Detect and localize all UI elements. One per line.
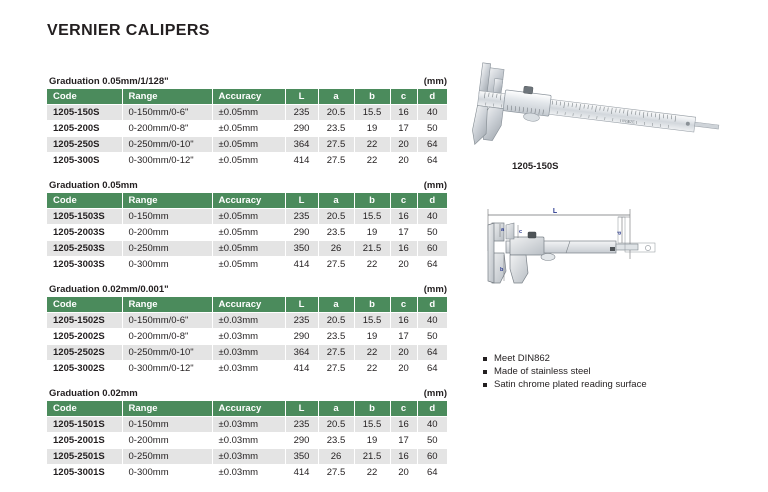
- cell-b: 19: [354, 121, 390, 137]
- cell-range: 0-250mm: [122, 241, 212, 257]
- cell-c: 20: [390, 345, 417, 361]
- cell-d: 64: [417, 361, 447, 377]
- column-header-a: a: [318, 297, 354, 313]
- table-row: 1205-1501S 0-150mm ±0.03mm 235 20.5 15.5…: [47, 417, 447, 433]
- cell-code: 1205-2003S: [47, 225, 122, 241]
- table-unit-note: (mm): [424, 388, 447, 399]
- column-header-d: d: [417, 193, 447, 209]
- cell-code: 1205-250S: [47, 137, 122, 153]
- column-header-code: Code: [47, 89, 122, 105]
- cell-a: 23.5: [318, 433, 354, 449]
- column-header-l: L: [285, 401, 318, 417]
- cell-d: 64: [417, 465, 447, 481]
- dimension-label-L: L: [553, 208, 558, 215]
- cell-a: 27.5: [318, 137, 354, 153]
- table-row: 1205-3003S 0-300mm ±0.05mm 414 27.5 22 2…: [47, 257, 447, 273]
- feature-list: Meet DIN862 Made of stainless steel Sati…: [483, 352, 647, 391]
- cell-accuracy: ±0.05mm: [212, 105, 285, 121]
- cell-range: 0-250mm/0-10": [122, 345, 212, 361]
- cell-l: 235: [285, 105, 318, 121]
- cell-b: 22: [354, 465, 390, 481]
- table-row: 1205-200S 0-200mm/0-8" ±0.05mm 290 23.5 …: [47, 121, 447, 137]
- cell-l: 350: [285, 241, 318, 257]
- cell-l: 290: [285, 329, 318, 345]
- table-caption-row: Graduation 0.05mm/1/128" (mm): [47, 76, 447, 89]
- dimension-label-c: c: [519, 229, 522, 235]
- column-header-l: L: [285, 297, 318, 313]
- cell-b: 15.5: [354, 209, 390, 225]
- column-header-accuracy: Accuracy: [212, 297, 285, 313]
- feature-list-item: Meet DIN862: [483, 352, 647, 365]
- table-caption: Graduation 0.05mm/1/128": [49, 76, 169, 87]
- cell-range: 0-300mm: [122, 257, 212, 273]
- cell-b: 19: [354, 433, 390, 449]
- product-photo-caption: 1205-150S: [512, 161, 558, 172]
- cell-code: 1205-300S: [47, 153, 122, 169]
- spec-table-block: Graduation 0.02mm/0.001" (mm) Code Range…: [47, 284, 447, 377]
- cell-l: 364: [285, 345, 318, 361]
- table-row: 1205-150S 0-150mm/0-6" ±0.05mm 235 20.5 …: [47, 105, 447, 121]
- dimension-label-a: a: [501, 227, 505, 233]
- vernier-caliper-photo-icon: INSIZE: [470, 62, 755, 157]
- column-header-c: c: [390, 89, 417, 105]
- cell-c: 17: [390, 329, 417, 345]
- cell-d: 60: [417, 241, 447, 257]
- cell-range: 0-150mm: [122, 417, 212, 433]
- cell-l: 350: [285, 449, 318, 465]
- vernier-caliper-dimension-drawing-icon: L a c b: [470, 195, 755, 305]
- cell-l: 414: [285, 153, 318, 169]
- column-header-code: Code: [47, 401, 122, 417]
- cell-l: 235: [285, 417, 318, 433]
- cell-l: 290: [285, 225, 318, 241]
- cell-code: 1205-3002S: [47, 361, 122, 377]
- cell-accuracy: ±0.05mm: [212, 241, 285, 257]
- table-row: 1205-2502S 0-250mm/0-10" ±0.03mm 364 27.…: [47, 345, 447, 361]
- cell-range: 0-200mm/0-8": [122, 121, 212, 137]
- table-caption: Graduation 0.05mm: [49, 180, 138, 191]
- cell-b: 15.5: [354, 417, 390, 433]
- cell-range: 0-250mm: [122, 449, 212, 465]
- cell-code: 1205-150S: [47, 105, 122, 121]
- spec-table-block: Graduation 0.05mm/1/128" (mm) Code Range…: [47, 76, 447, 169]
- table-caption: Graduation 0.02mm: [49, 388, 138, 399]
- cell-d: 40: [417, 417, 447, 433]
- cell-d: 64: [417, 137, 447, 153]
- cell-l: 290: [285, 433, 318, 449]
- table-caption-row: Graduation 0.02mm/0.001" (mm): [47, 284, 447, 297]
- cell-c: 20: [390, 257, 417, 273]
- cell-a: 23.5: [318, 121, 354, 137]
- column-header-range: Range: [122, 401, 212, 417]
- cell-range: 0-200mm/0-8": [122, 329, 212, 345]
- cell-accuracy: ±0.03mm: [212, 329, 285, 345]
- cell-code: 1205-200S: [47, 121, 122, 137]
- cell-code: 1205-2502S: [47, 345, 122, 361]
- cell-c: 20: [390, 361, 417, 377]
- column-header-a: a: [318, 401, 354, 417]
- cell-d: 50: [417, 329, 447, 345]
- column-header-range: Range: [122, 89, 212, 105]
- cell-a: 27.5: [318, 257, 354, 273]
- table-row: 1205-3002S 0-300mm/0-12" ±0.03mm 414 27.…: [47, 361, 447, 377]
- column-header-range: Range: [122, 297, 212, 313]
- table-unit-note: (mm): [424, 180, 447, 191]
- cell-accuracy: ±0.05mm: [212, 225, 285, 241]
- cell-c: 16: [390, 313, 417, 329]
- feature-list-item: Satin chrome plated reading surface: [483, 378, 647, 391]
- cell-l: 290: [285, 121, 318, 137]
- column-header-d: d: [417, 297, 447, 313]
- cell-range: 0-200mm: [122, 433, 212, 449]
- cell-range: 0-150mm/0-6": [122, 105, 212, 121]
- column-header-d: d: [417, 401, 447, 417]
- cell-range: 0-200mm: [122, 225, 212, 241]
- column-header-accuracy: Accuracy: [212, 401, 285, 417]
- table-row: 1205-2001S 0-200mm ±0.03mm 290 23.5 19 1…: [47, 433, 447, 449]
- cell-l: 364: [285, 137, 318, 153]
- cell-d: 64: [417, 153, 447, 169]
- product-illustration-column: INSIZE 1205-150S L: [470, 62, 755, 157]
- cell-a: 27.5: [318, 153, 354, 169]
- cell-c: 17: [390, 121, 417, 137]
- cell-b: 19: [354, 329, 390, 345]
- spec-table: Code Range Accuracy L a b c d 1205-1503S…: [47, 193, 447, 273]
- cell-c: 20: [390, 465, 417, 481]
- cell-l: 414: [285, 257, 318, 273]
- cell-code: 1205-2501S: [47, 449, 122, 465]
- feature-list-item: Made of stainless steel: [483, 365, 647, 378]
- column-header-code: Code: [47, 193, 122, 209]
- table-row: 1205-1502S 0-150mm/0-6" ±0.03mm 235 20.5…: [47, 313, 447, 329]
- cell-c: 20: [390, 153, 417, 169]
- table-unit-note: (mm): [424, 284, 447, 295]
- cell-l: 414: [285, 361, 318, 377]
- cell-range: 0-300mm/0-12": [122, 361, 212, 377]
- spec-table-block: Graduation 0.05mm (mm) Code Range Accura…: [47, 180, 447, 273]
- cell-code: 1205-1502S: [47, 313, 122, 329]
- cell-c: 16: [390, 209, 417, 225]
- cell-code: 1205-2002S: [47, 329, 122, 345]
- cell-a: 23.5: [318, 225, 354, 241]
- cell-accuracy: ±0.03mm: [212, 449, 285, 465]
- cell-accuracy: ±0.05mm: [212, 209, 285, 225]
- spec-tables-column: Graduation 0.05mm/1/128" (mm) Code Range…: [47, 76, 447, 492]
- spec-table: Code Range Accuracy L a b c d 1205-1501S…: [47, 401, 447, 481]
- cell-a: 23.5: [318, 329, 354, 345]
- column-header-b: b: [354, 401, 390, 417]
- cell-b: 22: [354, 257, 390, 273]
- table-header-row: Code Range Accuracy L a b c d: [47, 193, 447, 209]
- column-header-a: a: [318, 193, 354, 209]
- cell-accuracy: ±0.05mm: [212, 153, 285, 169]
- cell-a: 26: [318, 241, 354, 257]
- cell-code: 1205-2001S: [47, 433, 122, 449]
- cell-a: 27.5: [318, 361, 354, 377]
- cell-accuracy: ±0.03mm: [212, 313, 285, 329]
- cell-b: 22: [354, 361, 390, 377]
- table-caption-row: Graduation 0.02mm (mm): [47, 388, 447, 401]
- cell-l: 414: [285, 465, 318, 481]
- cell-a: 20.5: [318, 313, 354, 329]
- cell-l: 235: [285, 313, 318, 329]
- cell-accuracy: ±0.03mm: [212, 345, 285, 361]
- cell-d: 60: [417, 449, 447, 465]
- column-header-accuracy: Accuracy: [212, 193, 285, 209]
- column-header-b: b: [354, 297, 390, 313]
- page-title: VERNIER CALIPERS: [47, 22, 210, 40]
- cell-d: 50: [417, 225, 447, 241]
- cell-a: 20.5: [318, 105, 354, 121]
- table-row: 1205-2002S 0-200mm/0-8" ±0.03mm 290 23.5…: [47, 329, 447, 345]
- cell-c: 16: [390, 449, 417, 465]
- cell-b: 15.5: [354, 105, 390, 121]
- table-header-row: Code Range Accuracy L a b c d: [47, 89, 447, 105]
- table-row: 1205-2503S 0-250mm ±0.05mm 350 26 21.5 1…: [47, 241, 447, 257]
- product-photo-wrap: INSIZE 1205-150S: [470, 62, 755, 157]
- cell-range: 0-300mm/0-12": [122, 153, 212, 169]
- spec-table-block: Graduation 0.02mm (mm) Code Range Accura…: [47, 388, 447, 481]
- cell-accuracy: ±0.03mm: [212, 465, 285, 481]
- cell-c: 17: [390, 225, 417, 241]
- column-header-b: b: [354, 193, 390, 209]
- cell-d: 50: [417, 433, 447, 449]
- column-header-c: c: [390, 297, 417, 313]
- cell-code: 1205-1501S: [47, 417, 122, 433]
- table-row: 1205-2003S 0-200mm ±0.05mm 290 23.5 19 1…: [47, 225, 447, 241]
- cell-range: 0-150mm: [122, 209, 212, 225]
- cell-accuracy: ±0.03mm: [212, 361, 285, 377]
- cell-d: 40: [417, 105, 447, 121]
- cell-accuracy: ±0.05mm: [212, 257, 285, 273]
- cell-c: 16: [390, 105, 417, 121]
- cell-d: 64: [417, 345, 447, 361]
- column-header-code: Code: [47, 297, 122, 313]
- cell-a: 20.5: [318, 209, 354, 225]
- cell-code: 1205-2503S: [47, 241, 122, 257]
- cell-d: 64: [417, 257, 447, 273]
- cell-range: 0-300mm: [122, 465, 212, 481]
- table-row: 1205-1503S 0-150mm ±0.05mm 235 20.5 15.5…: [47, 209, 447, 225]
- cell-c: 20: [390, 137, 417, 153]
- column-header-c: c: [390, 193, 417, 209]
- spec-table: Code Range Accuracy L a b c d 1205-1502S…: [47, 297, 447, 377]
- cell-accuracy: ±0.05mm: [212, 137, 285, 153]
- cell-code: 1205-3001S: [47, 465, 122, 481]
- table-unit-note: (mm): [424, 76, 447, 87]
- cell-d: 50: [417, 121, 447, 137]
- cell-a: 20.5: [318, 417, 354, 433]
- column-header-b: b: [354, 89, 390, 105]
- cell-accuracy: ±0.05mm: [212, 121, 285, 137]
- cell-code: 1205-3003S: [47, 257, 122, 273]
- column-header-l: L: [285, 193, 318, 209]
- cell-a: 27.5: [318, 465, 354, 481]
- cell-b: 15.5: [354, 313, 390, 329]
- table-row: 1205-3001S 0-300mm ±0.03mm 414 27.5 22 2…: [47, 465, 447, 481]
- table-row: 1205-250S 0-250mm/0-10" ±0.05mm 364 27.5…: [47, 137, 447, 153]
- table-row: 1205-2501S 0-250mm ±0.03mm 350 26 21.5 1…: [47, 449, 447, 465]
- cell-l: 235: [285, 209, 318, 225]
- table-header-row: Code Range Accuracy L a b c d: [47, 401, 447, 417]
- column-header-a: a: [318, 89, 354, 105]
- column-header-accuracy: Accuracy: [212, 89, 285, 105]
- cell-a: 27.5: [318, 345, 354, 361]
- table-caption: Graduation 0.02mm/0.001": [49, 284, 169, 295]
- cell-d: 40: [417, 313, 447, 329]
- dimension-drawing-wrap: L a c b: [470, 195, 755, 305]
- cell-accuracy: ±0.03mm: [212, 417, 285, 433]
- column-header-d: d: [417, 89, 447, 105]
- column-header-range: Range: [122, 193, 212, 209]
- cell-accuracy: ±0.03mm: [212, 433, 285, 449]
- table-row: 1205-300S 0-300mm/0-12" ±0.05mm 414 27.5…: [47, 153, 447, 169]
- cell-code: 1205-1503S: [47, 209, 122, 225]
- cell-b: 22: [354, 345, 390, 361]
- column-header-c: c: [390, 401, 417, 417]
- cell-d: 40: [417, 209, 447, 225]
- cell-b: 21.5: [354, 449, 390, 465]
- table-caption-row: Graduation 0.05mm (mm): [47, 180, 447, 193]
- cell-b: 19: [354, 225, 390, 241]
- spec-table: Code Range Accuracy L a b c d 1205-150S …: [47, 89, 447, 169]
- cell-c: 16: [390, 241, 417, 257]
- cell-b: 22: [354, 153, 390, 169]
- cell-c: 16: [390, 417, 417, 433]
- table-header-row: Code Range Accuracy L a b c d: [47, 297, 447, 313]
- cell-b: 22: [354, 137, 390, 153]
- cell-range: 0-150mm/0-6": [122, 313, 212, 329]
- cell-range: 0-250mm/0-10": [122, 137, 212, 153]
- column-header-l: L: [285, 89, 318, 105]
- cell-a: 26: [318, 449, 354, 465]
- cell-c: 17: [390, 433, 417, 449]
- cell-b: 21.5: [354, 241, 390, 257]
